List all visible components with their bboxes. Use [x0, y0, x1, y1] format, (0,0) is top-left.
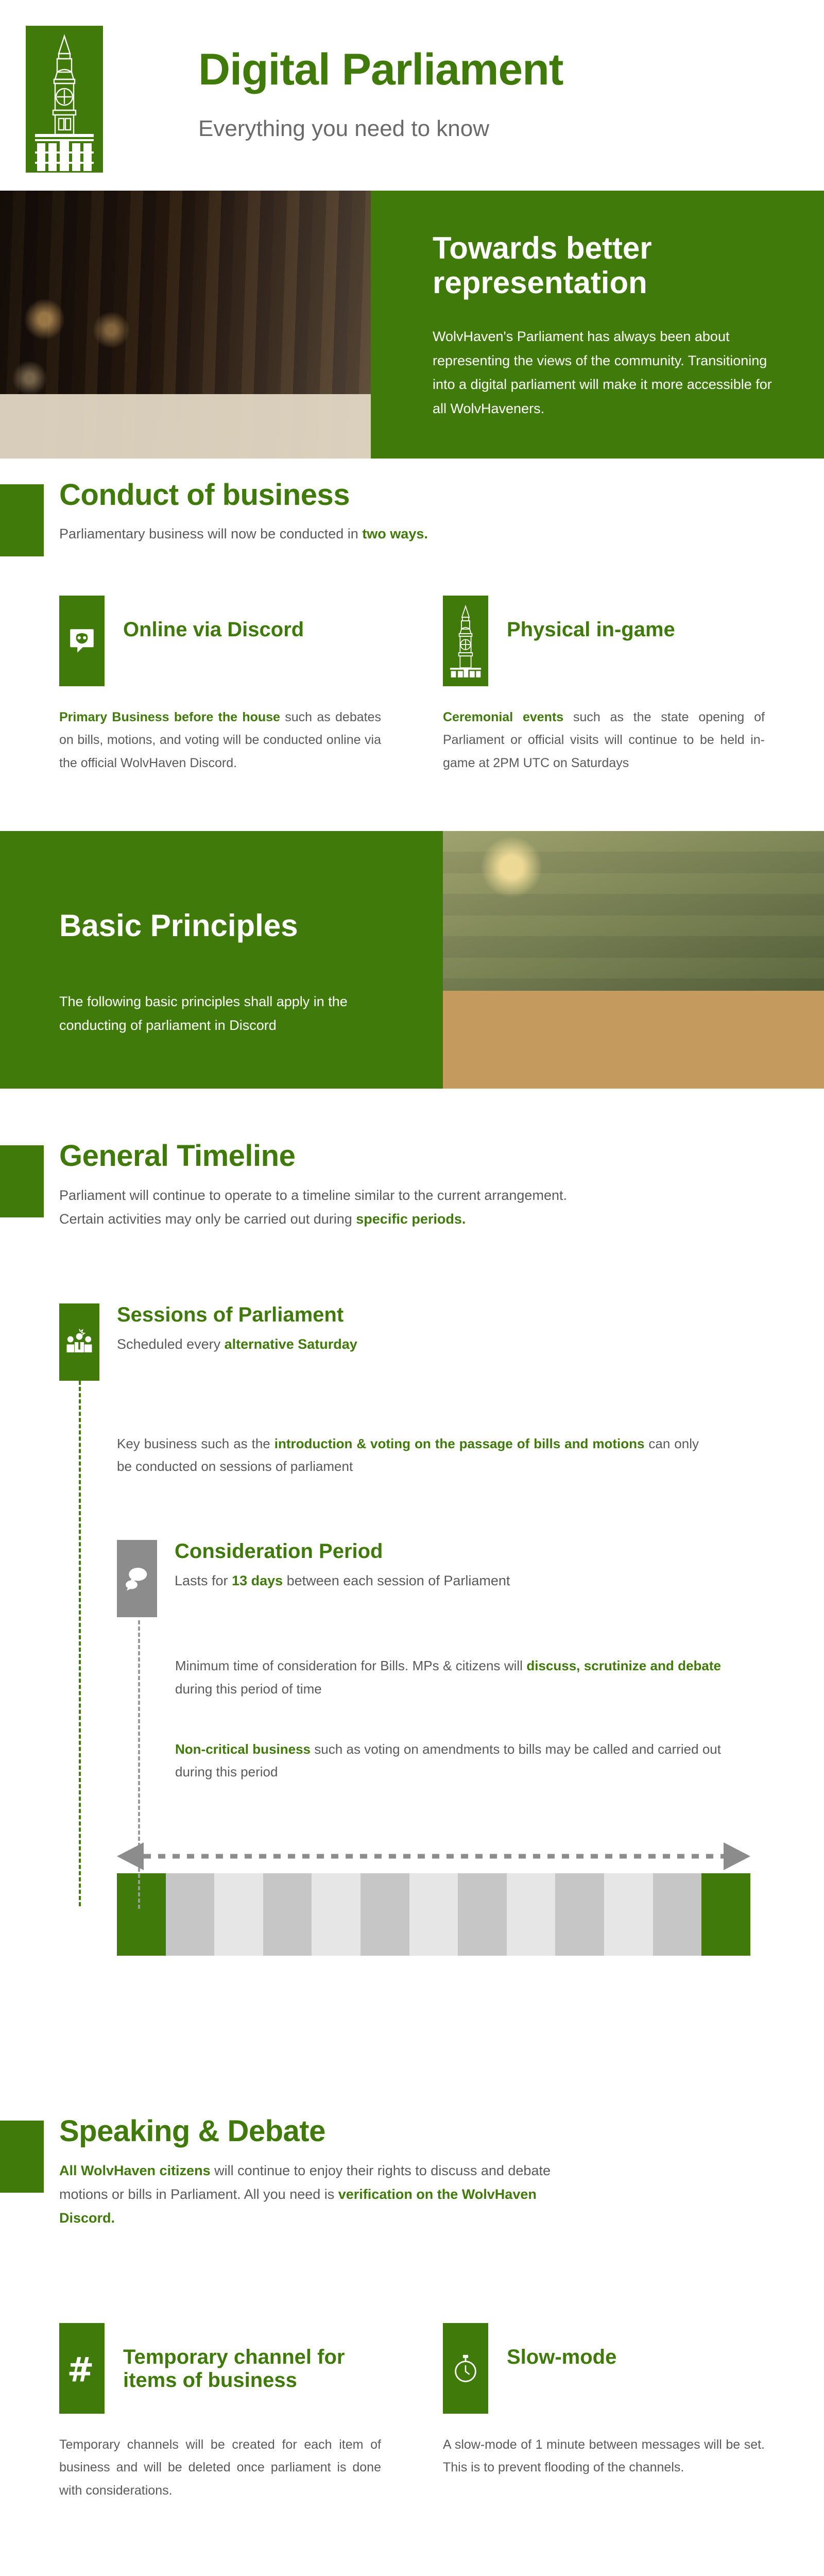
principles-image — [443, 831, 824, 1089]
bar-seg — [166, 1873, 215, 1956]
accent-bar — [0, 1145, 44, 1217]
parliament-clocktower-icon — [34, 33, 95, 172]
timeline-consideration-note-1: Minimum time of consideration for Bills.… — [175, 1654, 721, 1700]
timeline-sessions-title: Sessions of Parliament — [117, 1303, 765, 1326]
stopwatch-icon — [443, 2323, 488, 2414]
conduct-title: Conduct of business — [59, 479, 765, 511]
bar-seg — [117, 1873, 166, 1956]
page-title: Digital Parliament — [198, 47, 563, 92]
card-body-bold: Primary Business before the house — [59, 710, 280, 724]
timeline-head: General Timeline Parliament will continu… — [59, 1140, 765, 1231]
section-general-timeline: General Timeline Parliament will continu… — [0, 1140, 824, 1231]
timeline-lead: Parliament will continue to operate to a… — [59, 1183, 595, 1231]
accent-bar — [0, 484, 44, 556]
card-body: Temporary channels will be created for e… — [59, 2433, 381, 2502]
timeline-sessions-note: Key business such as the introduction & … — [117, 1432, 699, 1478]
section-conduct-of-business: Conduct of business Parliamentary busine… — [0, 479, 824, 774]
speaking-cards-row-1: Temporary channel for items of business … — [59, 2323, 765, 2502]
card-body: Primary Business before the house such a… — [59, 706, 381, 775]
card-temporary-channel: Temporary channel for items of business … — [59, 2323, 381, 2502]
discord-logo-icon — [59, 596, 105, 686]
parliament-clocktower-icon — [443, 596, 488, 686]
speaking-title: Speaking & Debate — [59, 2115, 765, 2147]
bar-seg — [360, 1873, 409, 1956]
bar-seg — [604, 1873, 653, 1956]
timeline-item-consideration: Consideration Period Lasts for 13 days b… — [117, 1540, 765, 1617]
card-title: Physical in-game — [507, 596, 675, 641]
conduct-cards: Online via Discord Primary Business befo… — [59, 596, 765, 775]
card-body: A slow-mode of 1 minute between messages… — [443, 2433, 765, 2479]
double-arrow-icon — [117, 1840, 750, 1872]
section-speaking-and-debate: Speaking & Debate All WolvHaven citizens… — [0, 2115, 824, 2576]
speaking-head: Speaking & Debate All WolvHaven citizens… — [59, 2115, 765, 2230]
basic-principles-band: Basic Principles The following basic pri… — [0, 831, 824, 1089]
card-slow-mode: Slow-mode A slow-mode of 1 minute betwee… — [443, 2323, 765, 2502]
bar-seg — [555, 1873, 604, 1956]
logo-box — [26, 26, 103, 173]
conduct-head: Conduct of business Parliamentary busine… — [59, 479, 765, 546]
conduct-lead-plain: Parliamentary business will now be condu… — [59, 526, 362, 541]
speech-bubbles-icon — [117, 1540, 157, 1617]
bar-seg — [653, 1873, 702, 1956]
card-title: Temporary channel for items of business — [123, 2323, 381, 2392]
card-physical-in-game: Physical in-game Ceremonial events such … — [443, 596, 765, 775]
principles-body: The following basic principles shall app… — [59, 990, 389, 1038]
timeline-span-arrow — [117, 1840, 750, 1872]
speaking-lead: All WolvHaven citizens will continue to … — [59, 2159, 595, 2230]
bar-seg — [507, 1873, 556, 1956]
bar-seg — [701, 1873, 750, 1956]
timeline-duration-bar — [117, 1873, 750, 1956]
page-subtitle: Everything you need to know — [198, 117, 489, 140]
hero-heading: Towards better representation — [433, 231, 783, 300]
timeline-vline-sessions — [79, 1381, 81, 1906]
timeline-sessions-sub: Scheduled every alternative Saturday — [117, 1333, 765, 1355]
accent-bar — [0, 2121, 44, 2193]
hero-image — [0, 191, 371, 459]
people-meeting-icon — [59, 1303, 99, 1381]
masthead: Digital Parliament Everything you need t… — [0, 0, 824, 191]
principles-text: Basic Principles The following basic pri… — [0, 831, 443, 1089]
bar-seg — [214, 1873, 263, 1956]
card-body: Ceremonial events such as the state open… — [443, 706, 765, 775]
hash-channel-icon — [59, 2323, 105, 2414]
card-online-via-discord: Online via Discord Primary Business befo… — [59, 596, 381, 775]
bar-seg — [263, 1873, 312, 1956]
conduct-lead-bold: two ways. — [362, 526, 428, 541]
card-title: Online via Discord — [123, 596, 304, 641]
hero-text: Towards better representation WolvHaven'… — [371, 191, 824, 459]
bar-seg — [458, 1873, 507, 1956]
timeline-lead-bold: specific periods. — [356, 1211, 466, 1227]
timeline-consideration-note-2: Non-critical business such as voting on … — [175, 1738, 721, 1784]
timeline-consideration-title: Consideration Period — [175, 1540, 765, 1563]
card-title: Slow-mode — [507, 2323, 616, 2369]
principles-heading: Basic Principles — [59, 908, 412, 943]
timeline-consideration-sub: Lasts for 13 days between each session o… — [175, 1570, 765, 1592]
hero-band: Towards better representation WolvHaven'… — [0, 191, 824, 459]
timeline-lead-plain: Parliament will continue to operate to a… — [59, 1188, 567, 1227]
bar-seg — [409, 1873, 458, 1956]
card-body-bold: Ceremonial events — [443, 710, 563, 724]
timeline-item-sessions: Sessions of Parliament Scheduled every a… — [59, 1303, 765, 1381]
timeline-track: Sessions of Parliament Scheduled every a… — [0, 1303, 824, 1956]
bar-seg — [312, 1873, 360, 1956]
conduct-lead: Parliamentary business will now be condu… — [59, 522, 595, 546]
timeline-title: General Timeline — [59, 1140, 765, 1172]
infographic-page: Digital Parliament Everything you need t… — [0, 0, 824, 2576]
hero-body: WolvHaven's Parliament has always been a… — [433, 325, 783, 420]
